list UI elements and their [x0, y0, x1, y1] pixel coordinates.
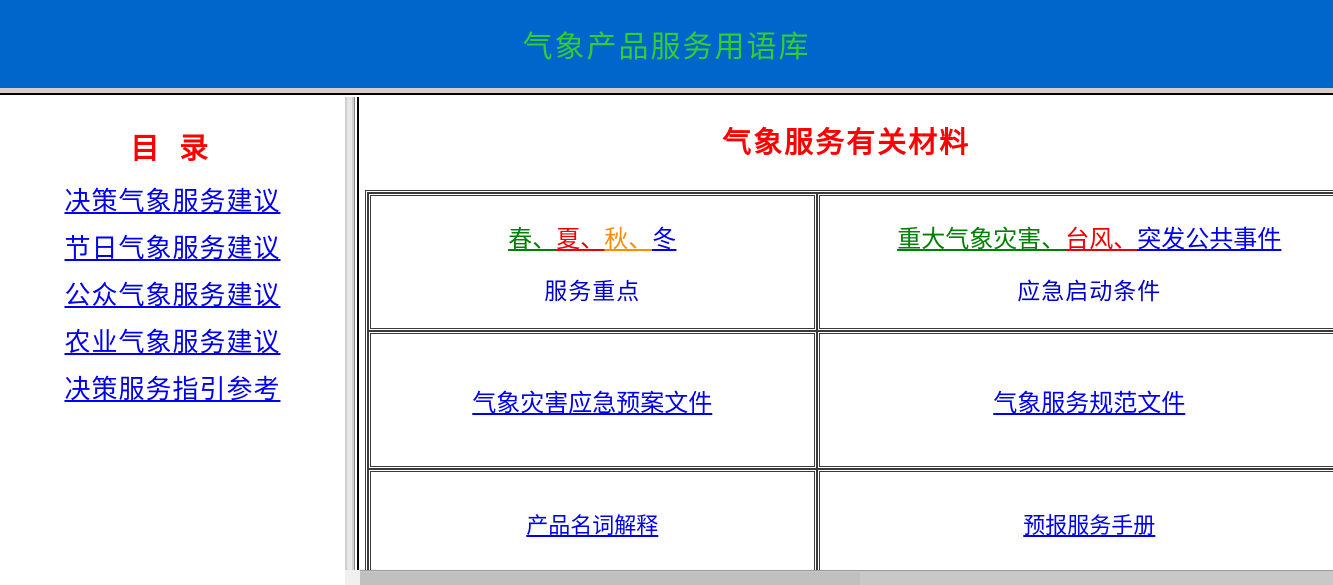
sidebar: 目 录 决策气象服务建议 节日气象服务建议 公众气象服务建议 农业气象服务建议 …: [0, 97, 345, 585]
app-header: 气象产品服务用语库: [0, 0, 1333, 88]
cell-service-standard[interactable]: 气象服务规范文件: [817, 331, 1333, 469]
table-row: 春、夏、秋、冬 服务重点 重大气象灾害、台风、突发公共事件 应急启动条件: [368, 193, 1333, 331]
service-standard-doc-link[interactable]: 气象服务规范文件: [993, 383, 1185, 418]
season-summer-text: 夏、: [556, 227, 604, 253]
scrollbar-corner: [345, 570, 360, 585]
page-title: 气象产品服务用语库: [523, 22, 811, 66]
vertical-scrollbar[interactable]: [345, 97, 355, 585]
main-panel: 气象服务有关材料 春、夏、秋、冬 服务重点 重大气象灾害、台风、突发公共事件: [360, 97, 1333, 585]
sidebar-item-holiday-advice[interactable]: 节日气象服务建议: [64, 234, 280, 263]
cell-glossary[interactable]: 产品名词解释: [368, 469, 817, 579]
list-item: 决策气象服务建议: [0, 181, 345, 218]
product-glossary-link[interactable]: 产品名词解释: [526, 508, 658, 540]
sidebar-item-public-advice[interactable]: 公众气象服务建议: [64, 281, 280, 310]
cell-seasons[interactable]: 春、夏、秋、冬 服务重点: [368, 193, 817, 331]
body-container: 目 录 决策气象服务建议 节日气象服务建议 公众气象服务建议 农业气象服务建议 …: [0, 97, 1333, 585]
service-focus-label: 服务重点: [381, 272, 804, 306]
emergency-events-link[interactable]: 重大气象灾害、台风、突发公共事件: [897, 219, 1281, 254]
season-autumn-text: 秋、: [604, 227, 652, 253]
list-item: 节日气象服务建议: [0, 228, 345, 265]
disaster-emergency-plan-link[interactable]: 气象灾害应急预案文件: [472, 383, 712, 418]
sidebar-item-decision-guideline[interactable]: 决策服务指引参考: [64, 375, 280, 404]
horizontal-scrollbar[interactable]: [360, 570, 1333, 585]
horizontal-scrollbar-thumb[interactable]: [360, 572, 860, 585]
major-disaster-text: 重大气象灾害、: [897, 227, 1065, 253]
main-heading: 气象服务有关材料: [360, 119, 1333, 161]
sidebar-item-agriculture-advice[interactable]: 农业气象服务建议: [64, 328, 280, 357]
seasons-link[interactable]: 春、夏、秋、冬: [508, 219, 676, 254]
list-item: 公众气象服务建议: [0, 275, 345, 312]
header-divider: [0, 88, 1333, 95]
table-row: 产品名词解释 预报服务手册: [368, 469, 1333, 579]
cell-forecast-manual[interactable]: 预报服务手册: [817, 469, 1333, 579]
vertical-scrollbar-track[interactable]: [347, 97, 352, 585]
forecast-service-manual-link[interactable]: 预报服务手册: [1023, 508, 1155, 540]
materials-table: 春、夏、秋、冬 服务重点 重大气象灾害、台风、突发公共事件 应急启动条件: [365, 190, 1333, 582]
sidebar-item-decision-advice[interactable]: 决策气象服务建议: [64, 187, 280, 216]
typhoon-text: 台风、: [1065, 227, 1137, 253]
emergency-trigger-label: 应急启动条件: [830, 272, 1333, 306]
list-item: 农业气象服务建议: [0, 322, 345, 359]
page-root: 气象产品服务用语库 目 录 决策气象服务建议 节日气象服务建议 公众气象服务建议…: [0, 0, 1333, 585]
season-spring-text: 春、: [508, 227, 556, 253]
toc-heading: 目 录: [0, 125, 345, 167]
list-item: 决策服务指引参考: [0, 369, 345, 406]
panel-divider-rule: [357, 97, 359, 579]
toc-list: 决策气象服务建议 节日气象服务建议 公众气象服务建议 农业气象服务建议 决策服务…: [0, 181, 345, 406]
cell-disaster-plan[interactable]: 气象灾害应急预案文件: [368, 331, 817, 469]
public-incident-text: 突发公共事件: [1137, 227, 1281, 253]
table-row: 气象灾害应急预案文件 气象服务规范文件: [368, 331, 1333, 469]
cell-emergency[interactable]: 重大气象灾害、台风、突发公共事件 应急启动条件: [817, 193, 1333, 331]
season-winter-text: 冬: [652, 227, 676, 253]
